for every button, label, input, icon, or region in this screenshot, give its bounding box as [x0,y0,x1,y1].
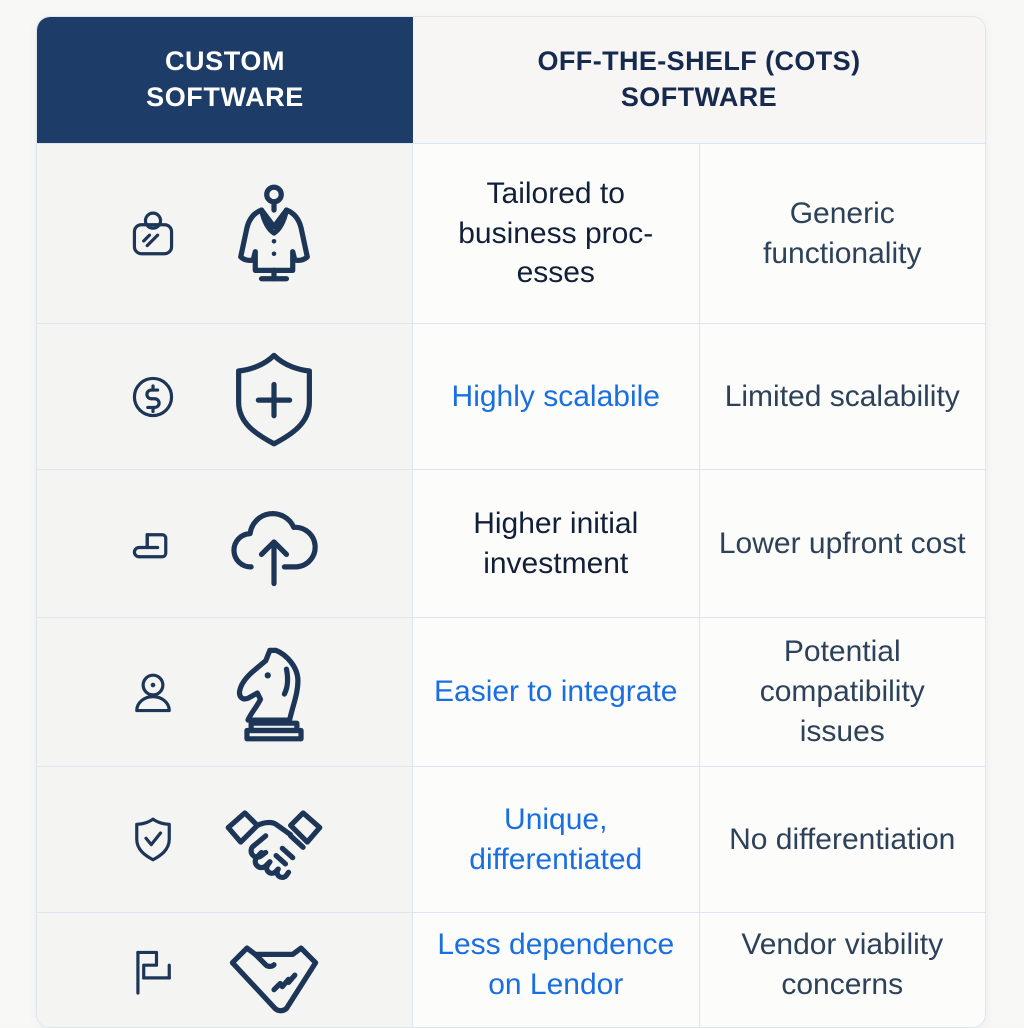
table-row: Easier to integrate Potential compatibil… [37,617,985,766]
column-header-cots-line2: SOFTWARE [538,80,861,116]
table-row: Higher initial investment Lower upfront … [37,469,985,617]
shield-plus-icon [222,345,326,449]
table-row: Highly scalabile Limited scalability [37,323,985,469]
comparison-table-canvas: CUSTOM SOFTWARE OFF-THE-SHELF (COTS) SOF… [0,0,1024,1024]
cell-cots-value: Generic functionality [700,144,986,323]
cloud-upload-icon [222,492,326,596]
comparison-table-card: CUSTOM SOFTWARE OFF-THE-SHELF (COTS) SOF… [36,16,986,1028]
cell-custom-value: Less dependence on Lendor [413,913,700,1028]
table-row: Less dependence on Lendor Vendor viabili… [37,912,985,1028]
cell-cots-value: Potential compatibility issues [700,618,986,766]
column-header-cots-software: OFF-THE-SHELF (COTS) SOFTWARE [413,17,985,143]
cell-custom-value: Easier to integrate [413,618,700,766]
cell-cots-value: Vendor viability concerns [700,913,986,1028]
cell-custom-value: Unique, differentiated [413,767,700,912]
row-icons-cell [37,144,413,323]
flag-icon [124,942,182,1000]
column-header-custom-software: CUSTOM SOFTWARE [37,17,413,143]
row-icons-cell [37,618,413,766]
table-header-row: CUSTOM SOFTWARE OFF-THE-SHELF (COTS) SOF… [37,17,985,143]
tailored-suit-icon [222,182,326,286]
cell-cots-value: Limited scalability [700,324,986,469]
handshake-deal-icon [222,919,326,1023]
handshake-icon [222,788,326,892]
row-icons-cell [37,913,413,1028]
chess-knight-icon [222,640,326,744]
thumbs-up-icon [124,515,182,573]
row-icons-cell [37,767,413,912]
cell-cots-value: Lower upfront cost [700,470,986,617]
column-header-custom-line1: CUSTOM [146,44,304,80]
table-row: Tailored to business proc-esses Generic … [37,143,985,323]
shield-check-icon [124,811,182,869]
cell-custom-value: Highly scalabile [413,324,700,469]
cell-cots-value: No differentiation [700,767,986,912]
column-header-cots-line1: OFF-THE-SHELF (COTS) [538,44,861,80]
cell-custom-value: Tailored to business proc-esses [413,144,700,323]
row-icons-cell [37,324,413,469]
table-row: Unique, differentiated No differentiatio… [37,766,985,912]
id-badge-icon [124,205,182,263]
column-header-custom-line2: SOFTWARE [146,80,304,116]
row-icons-cell [37,470,413,617]
cell-custom-value: Higher initial investment [413,470,700,617]
dollar-circle-icon [124,368,182,426]
user-icon [124,663,182,721]
